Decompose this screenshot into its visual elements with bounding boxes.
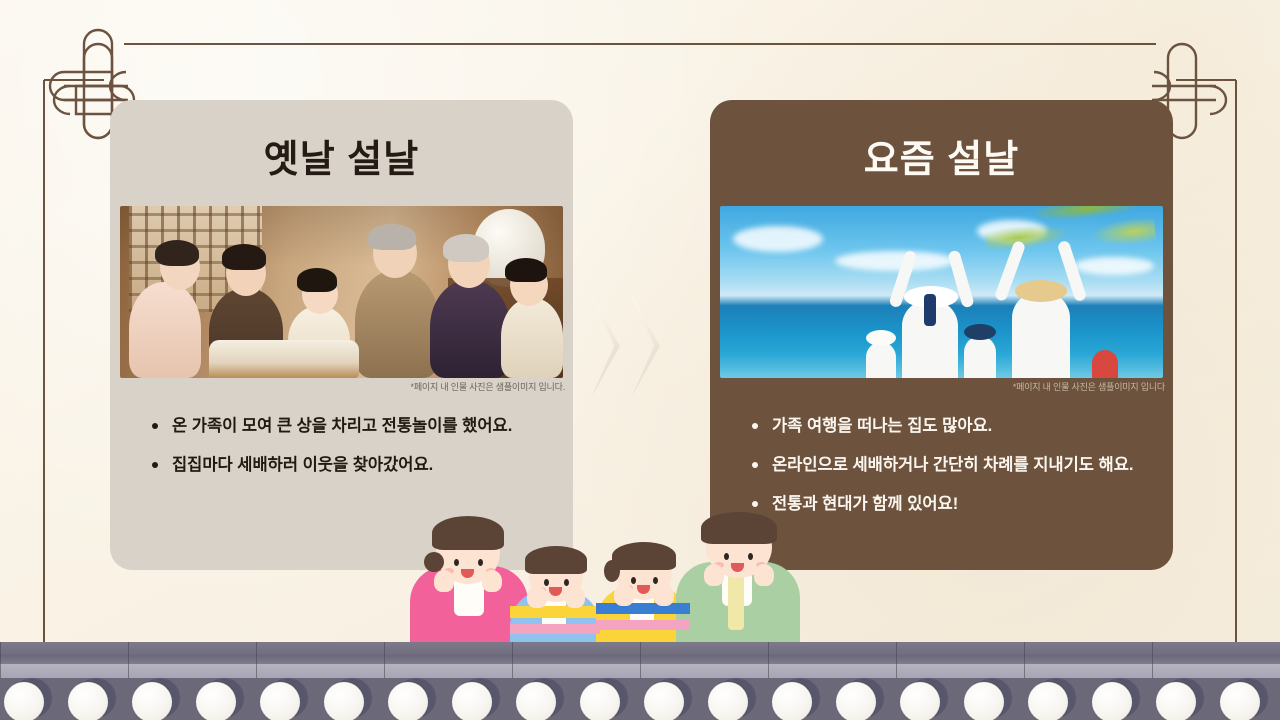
beach-person-father [1012, 292, 1070, 378]
bullet-list-now: 가족 여행을 떠나는 집도 많아요. 온라인으로 세배하거나 간단히 차례를 지… [750, 412, 1139, 519]
tile-cap-row [0, 678, 1280, 720]
hanok-family-photo [120, 206, 563, 378]
boy-eye-left [544, 579, 549, 586]
roof-tile-cap [256, 678, 320, 720]
straw-hat-father [1015, 280, 1067, 302]
mother-hand-left [434, 570, 454, 592]
tile-seams [0, 642, 1280, 678]
list-item: 가족 여행을 떠나는 집도 많아요. [750, 412, 1139, 441]
roof-tile-disc [516, 682, 556, 720]
roof-tile-disc [1220, 682, 1260, 720]
roof-tile-cap [704, 678, 768, 720]
roof-tile-disc [196, 682, 236, 720]
photo-person-grandmother [430, 280, 510, 378]
ceremonial-table [209, 340, 360, 378]
mother-hand-right [482, 570, 502, 592]
roof-tile-cap [0, 678, 64, 720]
roof-tile-cap [832, 678, 896, 720]
slide-canvas: 옛날 설날 [0, 0, 1280, 720]
father-hair [701, 512, 777, 544]
father-hand-left [704, 564, 724, 586]
girl-hair [612, 542, 676, 570]
roof-tile-disc [580, 682, 620, 720]
sun-hat-child-right [964, 324, 996, 340]
bullet-list-past: 온 가족이 모여 큰 상을 차리고 전통놀이를 했어요. 집집마다 세배하러 이… [150, 412, 539, 480]
roof-tile-cap [128, 678, 192, 720]
roof-tile-disc [260, 682, 300, 720]
roof-tile-disc [1156, 682, 1196, 720]
girl-eye-right [653, 577, 658, 584]
roof-tile-disc [388, 682, 428, 720]
roof-tile-disc [772, 682, 812, 720]
double-chevron-arrow [592, 296, 688, 396]
roof-tile-disc [132, 682, 172, 720]
roof-tile-disc [452, 682, 492, 720]
boy-hair [525, 546, 587, 574]
photo-hair-grandfather [368, 224, 416, 250]
roof-tile-cap [896, 678, 960, 720]
roof-tile-disc [644, 682, 684, 720]
korean-roof-tile-border [0, 642, 1280, 720]
roof-tile-cap [448, 678, 512, 720]
list-item: 온 가족이 모여 큰 상을 차리고 전통놀이를 했어요. [150, 412, 539, 441]
photo-person-grandfather [355, 270, 439, 378]
roof-tile-cap [768, 678, 832, 720]
mother-hair-bun [424, 552, 444, 572]
girl-sash-pink [596, 620, 690, 630]
roof-tile-disc [1092, 682, 1132, 720]
photo-caption-now: *페이지 내 인물 사진은 샘플이미지 입니다 [1013, 380, 1165, 393]
father-eye-left [724, 553, 729, 560]
list-item: 온라인으로 세배하거나 간단히 차례를 지내기도 해요. [750, 451, 1139, 480]
roof-tile-disc [900, 682, 940, 720]
roof-tile-cap [576, 678, 640, 720]
girl-eye-left [631, 577, 636, 584]
roof-tile-cap [192, 678, 256, 720]
photo-person-mother [129, 282, 201, 378]
father-eye-right [748, 553, 753, 560]
hanbok-family-illustration [360, 508, 830, 658]
beach-person-child-right [964, 336, 996, 378]
panel-past-new-year: 옛날 설날 [110, 100, 573, 570]
chevron-right-icon-2 [632, 296, 680, 396]
boy-eye-right [564, 579, 569, 586]
roof-tile-cap [960, 678, 1024, 720]
mother-hair [432, 516, 504, 550]
photo-hair-mother [155, 240, 199, 266]
panel-now-title: 요즘 설날 [710, 100, 1173, 182]
chevron-right-icon-1 [592, 296, 640, 396]
panel-modern-new-year: 요즘 설날 [710, 100, 1173, 570]
photo-hair-child [297, 268, 337, 292]
girl-hair-ponytail [604, 560, 620, 582]
boy-sash-yellow [510, 606, 600, 618]
roof-tile-cap [512, 678, 576, 720]
roof-tile-cap [1216, 678, 1280, 720]
roof-tile-disc [964, 682, 1004, 720]
hat-ribbon-mother [924, 294, 936, 326]
roof-tile-cap [320, 678, 384, 720]
roof-tile-cap [1024, 678, 1088, 720]
roof-tile-disc [324, 682, 364, 720]
roof-tile-disc [836, 682, 876, 720]
roof-tile-disc [1028, 682, 1068, 720]
photo-hair-grandmother [443, 234, 489, 262]
beach-person-red [1092, 350, 1118, 378]
list-item: 집집마다 세배하러 이웃을 찾아갔어요. [150, 451, 539, 480]
mother-eye-right [478, 559, 483, 566]
beach-person-child-left [866, 342, 896, 378]
boy-hand-left [527, 586, 547, 608]
roof-tile-disc [68, 682, 108, 720]
cloud-1 [733, 226, 823, 252]
photo-hair-boy [505, 258, 547, 282]
father-character [676, 512, 802, 658]
roof-tile-cap [640, 678, 704, 720]
girl-hand-left [614, 584, 634, 606]
roof-tile-disc [4, 682, 44, 720]
sun-hat-child-left [866, 330, 896, 346]
photo-caption-past: *페이지 내 인물 사진은 샘플이미지 입니다. [411, 380, 565, 393]
panel-past-title: 옛날 설날 [110, 100, 573, 182]
boy-hand-right [565, 586, 585, 608]
photo-person-boy [501, 298, 563, 378]
roof-tile-disc [708, 682, 748, 720]
roof-tile-cap [1088, 678, 1152, 720]
photo-hair-father [222, 244, 266, 270]
father-hand-right [754, 564, 774, 586]
beach-vacation-family-photo [720, 206, 1163, 378]
roof-tile-cap [64, 678, 128, 720]
boy-sash-pink [510, 624, 600, 634]
roof-tile-cap [384, 678, 448, 720]
girl-sash-blue [596, 603, 690, 614]
roof-tile-cap [1152, 678, 1216, 720]
mother-eye-left [454, 559, 459, 566]
girl-hand-right [654, 584, 674, 606]
cloud-2 [835, 251, 955, 271]
